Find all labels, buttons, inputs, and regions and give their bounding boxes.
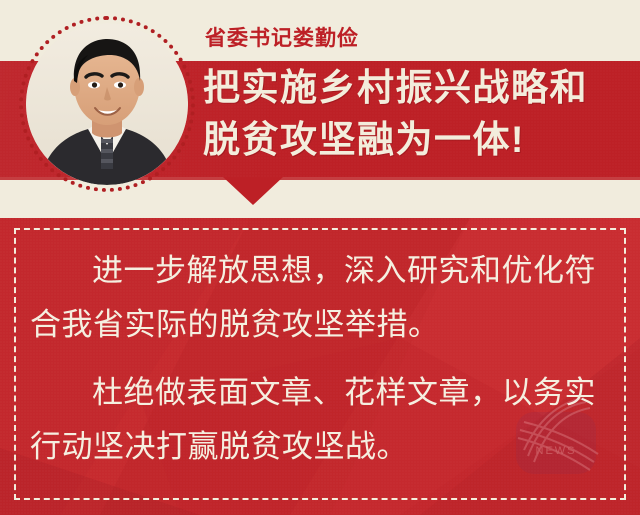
headline-line-2: 脱贫攻坚融为一体! — [203, 114, 623, 166]
content-panel: 进一步解放思想，深入研究和优化符合我省实际的脱贫攻坚举措。 杜绝做表面文章、花样… — [0, 218, 640, 515]
headline-line-1: 把实施乡村振兴战略和 — [203, 62, 623, 114]
portrait-dotted-ring — [19, 16, 195, 192]
banner-pointer-triangle — [223, 177, 283, 205]
quote-body: 进一步解放思想，深入研究和优化符合我省实际的脱贫攻坚举措。 杜绝做表面文章、花样… — [30, 244, 610, 474]
headline: 把实施乡村振兴战略和 脱贫攻坚融为一体! — [203, 62, 623, 166]
kicker-label: 省委书记娄勤俭 — [205, 22, 359, 52]
poster-root: 省委书记娄勤俭 把实施乡村振兴战略和 脱贫攻坚融为一体! 进一步解放思想，深入研… — [0, 0, 640, 515]
portrait — [19, 16, 195, 192]
quote-paragraph-2: 杜绝做表面文章、花样文章，以务实行动坚决打赢脱贫攻坚战。 — [30, 366, 610, 474]
quote-paragraph-1: 进一步解放思想，深入研究和优化符合我省实际的脱贫攻坚举措。 — [30, 244, 610, 352]
